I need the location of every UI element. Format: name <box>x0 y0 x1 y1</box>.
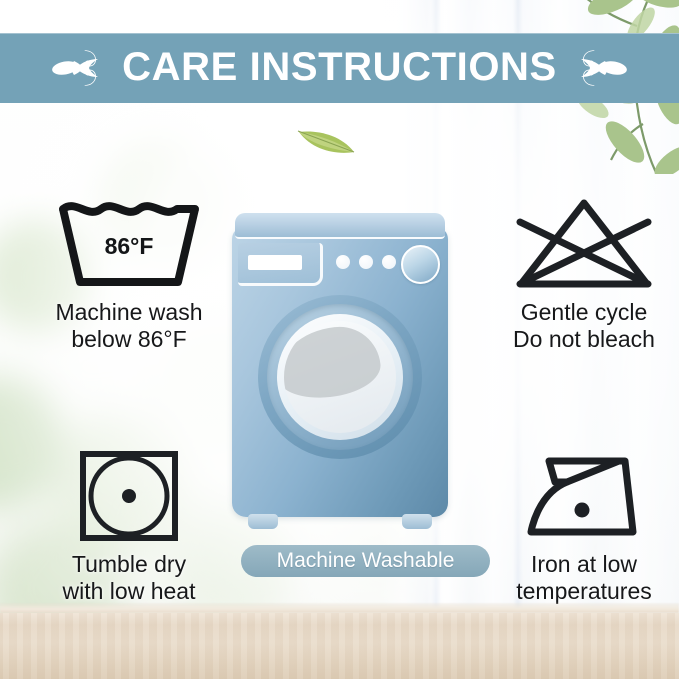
washer-control-panel <box>232 241 448 285</box>
washer-foot <box>402 514 432 529</box>
washer-door <box>258 295 422 459</box>
wash-tub-icon: 86°F <box>14 196 244 292</box>
indicator-dot <box>359 255 373 269</box>
badge-label: Machine Washable <box>277 550 455 573</box>
symbol-tumble-dry: Tumble dry with low heat <box>14 448 244 605</box>
fleur-de-lis-icon <box>571 44 627 92</box>
symbol-caption: Iron at low temperatures <box>486 551 679 605</box>
table-wood-grain <box>0 613 679 679</box>
indicator-lights <box>336 255 396 269</box>
washer-door-reflection <box>284 323 384 403</box>
wash-temperature-value: 86°F <box>105 233 154 259</box>
program-knob <box>401 245 440 284</box>
washer-foot <box>248 514 278 529</box>
indicator-dot <box>336 255 350 269</box>
drawer-slot <box>248 255 302 270</box>
symbol-machine-wash: 86°F Machine wash below 86°F <box>14 196 244 353</box>
fleur-de-lis-icon <box>52 44 108 92</box>
washer-door-glass <box>284 321 396 433</box>
symbol-caption: Machine wash below 86°F <box>14 299 244 353</box>
table-edge <box>0 603 679 613</box>
header-banner: CARE INSTRUCTIONS <box>0 33 679 103</box>
crossed-triangle-do-not-bleach-icon <box>486 196 679 292</box>
washer-door-ring-outer <box>267 304 413 450</box>
page-title: CARE INSTRUCTIONS <box>122 47 557 89</box>
machine-washable-badge: Machine Washable <box>241 545 490 577</box>
symbol-caption: Tumble dry with low heat <box>14 551 244 605</box>
tumble-dry-low-heat-icon <box>14 448 244 544</box>
symbol-iron-low: Iron at low temperatures <box>486 448 679 605</box>
detergent-drawer <box>238 243 323 286</box>
washing-machine-icon <box>232 213 448 531</box>
washer-door-ring-inner <box>277 314 403 440</box>
indicator-dot <box>382 255 396 269</box>
symbol-do-not-bleach: Gentle cycle Do not bleach <box>486 196 679 353</box>
iron-low-temperature-icon <box>486 448 679 544</box>
leaf-icon <box>296 120 360 160</box>
care-instructions-graphic: CARE INSTRUCTIONS <box>0 0 679 679</box>
washer-lid <box>235 213 445 239</box>
symbol-caption: Gentle cycle Do not bleach <box>486 299 679 353</box>
